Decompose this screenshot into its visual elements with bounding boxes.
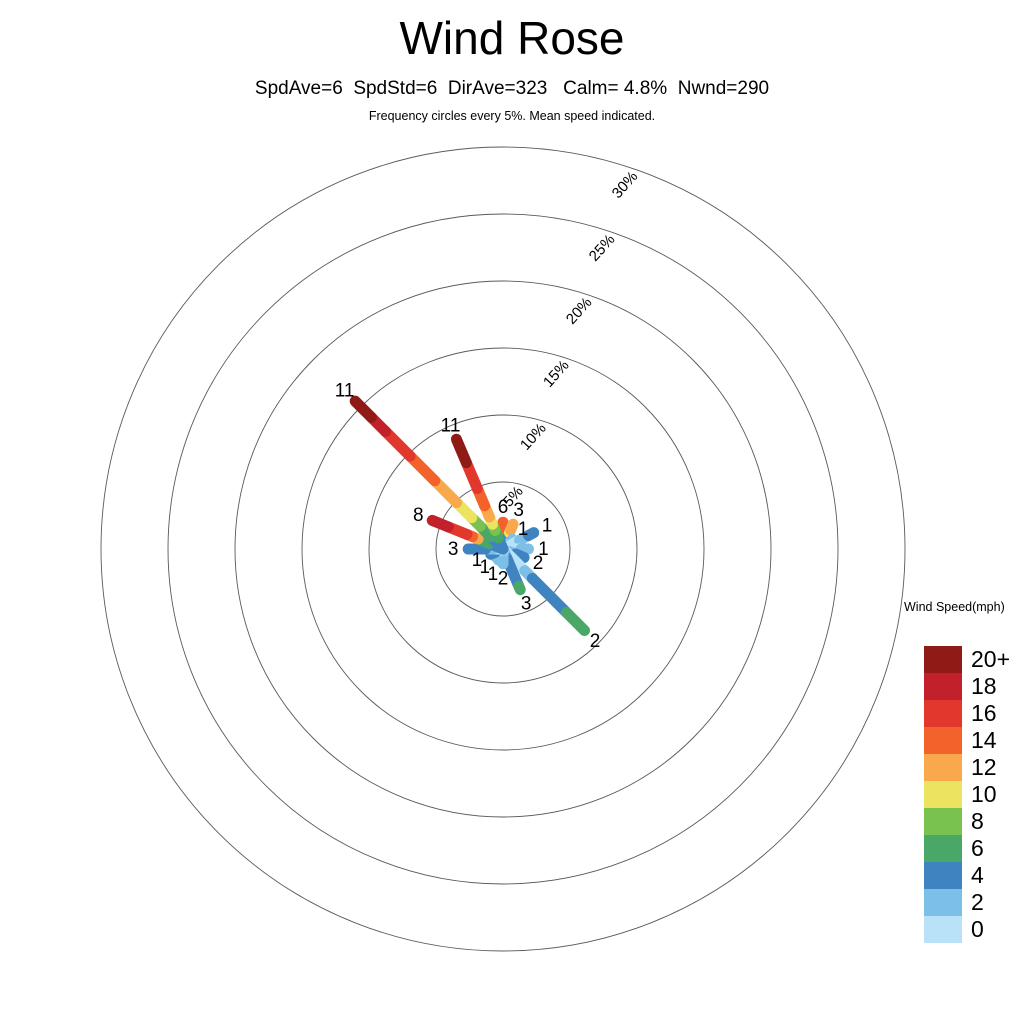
legend-color-swatch bbox=[924, 916, 962, 943]
legend-swatch-list: 20+181614121086420 bbox=[924, 646, 1010, 943]
legend-row: 8 bbox=[924, 808, 1010, 835]
petal-mean-speed-label: 8 bbox=[413, 505, 424, 526]
legend-color-swatch bbox=[924, 646, 962, 673]
legend-label: 10 bbox=[971, 783, 997, 806]
legend-color-swatch bbox=[924, 727, 962, 754]
legend-color-swatch bbox=[924, 889, 962, 916]
petal-segment bbox=[432, 520, 448, 527]
petal-segment bbox=[511, 524, 513, 530]
legend-row: 16 bbox=[924, 700, 1010, 727]
legend-label: 0 bbox=[971, 918, 984, 941]
wind-petal bbox=[355, 401, 503, 549]
radial-axis-labels: 5%10%15%20%25%30% bbox=[500, 168, 642, 510]
legend-row: 2 bbox=[924, 889, 1010, 916]
legend-color-swatch bbox=[924, 700, 962, 727]
petal-segment bbox=[519, 586, 521, 590]
petal-mean-speed-label: 11 bbox=[335, 381, 355, 402]
legend-color-swatch bbox=[924, 673, 962, 700]
legend-row: 18 bbox=[924, 673, 1010, 700]
legend-label: 12 bbox=[971, 756, 997, 779]
legend-row: 6 bbox=[924, 835, 1010, 862]
radial-tick-label: 15% bbox=[540, 357, 573, 391]
legend-row: 0 bbox=[924, 916, 1010, 943]
legend-row: 4 bbox=[924, 862, 1010, 889]
radial-tick-label: 25% bbox=[586, 231, 619, 265]
wind-rose-plot: 5%10%15%20%25%30% 631112232111381111 bbox=[0, 0, 1024, 1024]
petal-mean-speed-label: 1 bbox=[542, 516, 553, 537]
legend-row: 10 bbox=[924, 781, 1010, 808]
petal-mean-speed-label: 6 bbox=[498, 497, 509, 518]
wind-rose-svg: 5%10%15%20%25%30% 631112232111381111 bbox=[0, 0, 1024, 1024]
petal-segment bbox=[532, 578, 566, 612]
legend-label: 6 bbox=[971, 837, 984, 860]
legend-label: 20+ bbox=[971, 648, 1010, 671]
radial-tick-label: 10% bbox=[517, 420, 550, 454]
radial-tick-label: 30% bbox=[609, 168, 642, 202]
petal-mean-speed-label: 2 bbox=[498, 569, 509, 590]
legend-label: 14 bbox=[971, 729, 997, 752]
petal-mean-speed-label: 3 bbox=[448, 539, 459, 560]
petal-mean-speed-label: 2 bbox=[533, 553, 544, 574]
legend-color-swatch bbox=[924, 781, 962, 808]
petal-mean-speed-label: 2 bbox=[590, 631, 601, 652]
legend-color-swatch bbox=[924, 835, 962, 862]
legend-title: Wind Speed(mph) bbox=[904, 600, 1024, 614]
legend: Wind Speed(mph) 20+181614121086420 bbox=[900, 600, 1024, 614]
legend-label: 4 bbox=[971, 864, 984, 887]
petal-mean-speed-label: 1 bbox=[518, 519, 529, 540]
legend-color-swatch bbox=[924, 754, 962, 781]
petal-mean-speed-label: 1 bbox=[472, 550, 483, 571]
legend-color-swatch bbox=[924, 808, 962, 835]
petal-mean-speed-label: 11 bbox=[441, 415, 461, 436]
radial-tick-label: 20% bbox=[563, 294, 596, 328]
legend-row: 12 bbox=[924, 754, 1010, 781]
legend-label: 18 bbox=[971, 675, 997, 698]
petal-segment bbox=[566, 612, 584, 630]
legend-label: 8 bbox=[971, 810, 984, 833]
legend-row: 20+ bbox=[924, 646, 1010, 673]
legend-label: 2 bbox=[971, 891, 984, 914]
petal-segment bbox=[456, 439, 466, 462]
petal-mean-speed-label: 3 bbox=[521, 594, 532, 615]
legend-label: 16 bbox=[971, 702, 997, 725]
petal-segment bbox=[355, 401, 371, 417]
legend-row: 14 bbox=[924, 727, 1010, 754]
legend-color-swatch bbox=[924, 862, 962, 889]
petal-segment bbox=[528, 533, 533, 536]
